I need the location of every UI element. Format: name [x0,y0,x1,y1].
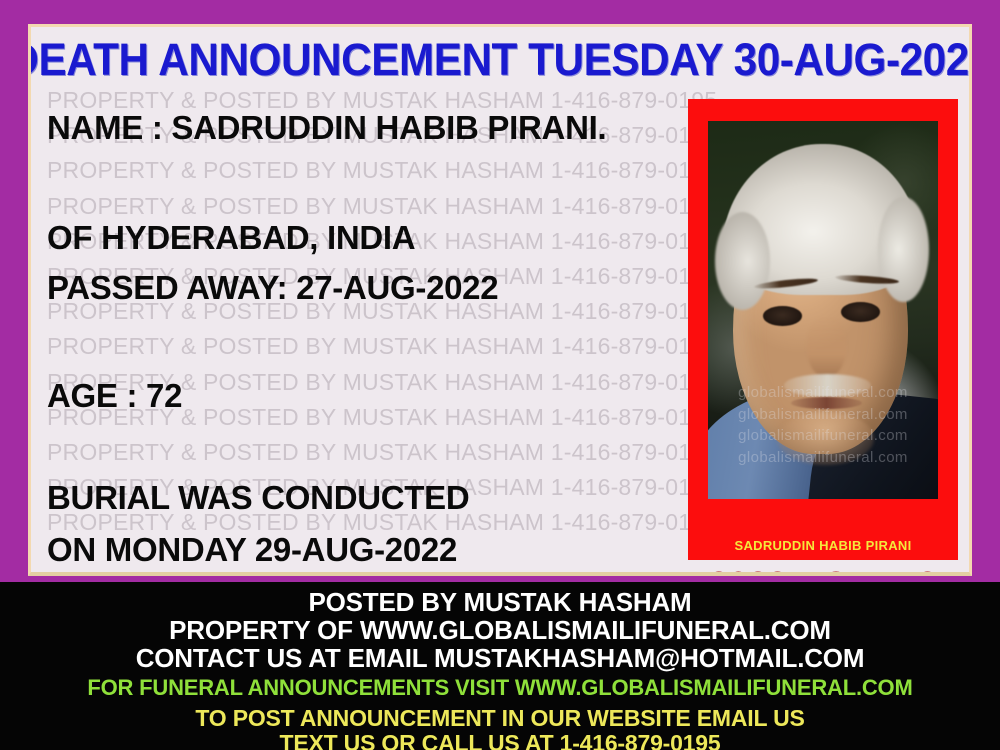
portrait-hair-left [715,212,770,310]
portrait-mouth [791,397,862,409]
deceased-portrait: globalismailifuneral.comglobalismailifun… [708,121,938,499]
death-announcement-poster: PROPERTY & POSTED BY MUSTAK HASHAM 1-416… [0,0,1000,750]
detail-age: AGE : 72 [47,379,182,412]
announcement-number: 2022 NO.1552 [688,560,958,576]
portrait-eye-left [763,306,802,326]
photo-block: globalismailifuneral.comglobalismailifun… [688,99,958,576]
portrait-nose [807,318,846,378]
footer-post-info: TO POST ANNOUNCEMENT IN OUR WEBSITE EMAI… [0,706,1000,732]
footer-phone: TEXT US OR CALL US AT 1-416-879-0195 [0,731,1000,750]
footer-posted-by: POSTED BY MUSTAK HASHAM [0,588,1000,616]
watermark-line: PROPERTY & POSTED BY MUSTAK HASHAM 1-416… [47,333,717,360]
detail-burial-2: ON MONDAY 29-AUG-2022 [47,533,457,566]
title-bar: DEATH ANNOUNCEMENT TUESDAY 30-AUG-2022 [31,27,969,93]
footer: POSTED BY MUSTAK HASHAM PROPERTY OF WWW.… [0,582,1000,750]
watermark-line: PROPERTY & POSTED BY MUSTAK HASHAM 1-416… [47,193,717,220]
announcement-card: PROPERTY & POSTED BY MUSTAK HASHAM 1-416… [28,24,972,576]
photo-caption: SADRUDDIN HABIB PIRANI [688,533,958,560]
detail-burial-1: BURIAL WAS CONDUCTED [47,481,469,514]
watermark-line: PROPERTY & POSTED BY MUSTAK HASHAM 1-416… [47,157,717,184]
footer-visit-site[interactable]: FOR FUNERAL ANNOUNCEMENTS VISIT WWW.GLOB… [0,675,1000,701]
portrait-mustache [784,374,871,397]
portrait-chin [777,412,874,465]
detail-city: OF HYDERABAD, INDIA [47,221,415,254]
photo-red-frame: globalismailifuneral.comglobalismailifun… [688,99,958,533]
footer-property-of: PROPERTY OF WWW.GLOBALISMAILIFUNERAL.COM [0,616,1000,644]
watermark-line: PROPERTY & POSTED BY MUSTAK HASHAM 1-416… [47,439,717,466]
portrait-hair-right [878,197,929,303]
detail-passed-away: PASSED AWAY: 27-AUG-2022 [47,271,498,304]
footer-contact: CONTACT US AT EMAIL MUSTAKHASHAM@HOTMAIL… [0,644,1000,672]
purple-border-frame: PROPERTY & POSTED BY MUSTAK HASHAM 1-416… [0,0,1000,582]
detail-name: NAME : SADRUDDIN HABIB PIRANI. [47,111,606,144]
page-title: DEATH ANNOUNCEMENT TUESDAY 30-AUG-2022 [28,34,972,86]
